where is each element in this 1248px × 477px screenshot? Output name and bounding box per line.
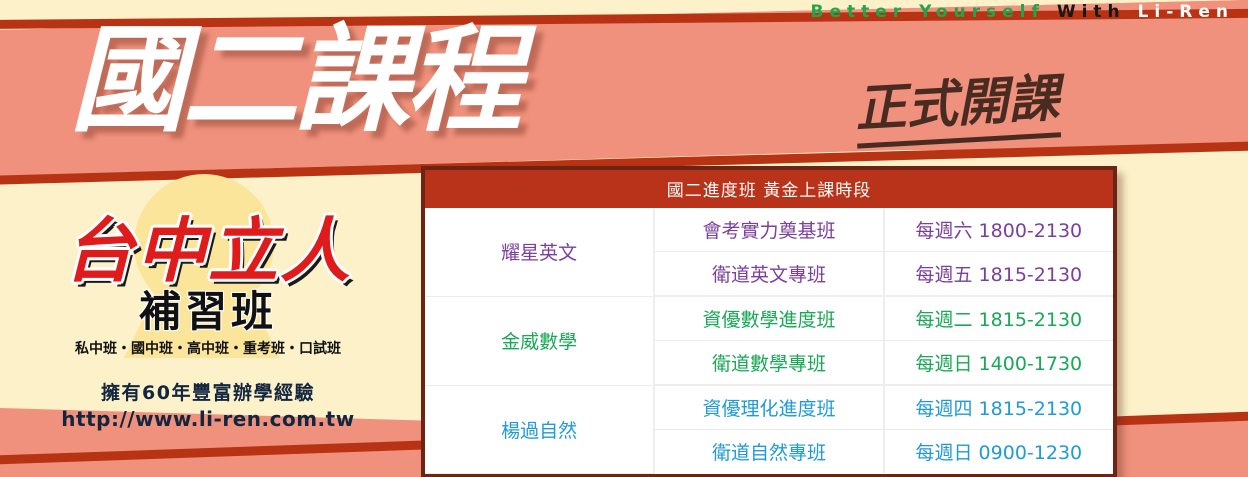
schedule-header-row: 國二進度班 黃金上課時段: [425, 170, 1113, 208]
schedule-time-cell: 每週日 1400-1730: [884, 341, 1113, 386]
logo-brand-subname: 補習班: [28, 288, 388, 335]
tagline-part-green: Better Yourself: [811, 2, 1045, 22]
tagline: Better Yourself With Li-Ren: [811, 2, 1234, 22]
promo-banner: Better Yourself With Li-Ren 國二課程 正式開課 台中…: [0, 0, 1248, 477]
schedule-course-cell: 衛道英文專班: [654, 252, 883, 297]
logo-website-url[interactable]: http://www.li-ren.com.tw: [28, 407, 388, 431]
logo-brand-name: 台中立人: [28, 196, 388, 286]
schedule-time-cell: 每週日 0900-1230: [884, 430, 1113, 474]
table-row: 金威數學資優數學進度班每週二 1815-2130: [425, 296, 1113, 341]
schedule-subject-cell: 耀星英文: [425, 208, 654, 296]
schedule-course-cell: 會考實力奠基班: [654, 208, 883, 252]
schedule-subject-cell: 楊過自然: [425, 385, 654, 473]
tagline-part-white: Li-Ren: [1138, 2, 1234, 22]
logo-class-types: 私中班・國中班・高中班・重考班・口試班: [28, 338, 388, 358]
headline-subtitle: 正式開課: [853, 56, 1061, 148]
schedule-course-cell: 衛道數學專班: [654, 341, 883, 386]
schedule-course-cell: 資優數學進度班: [654, 296, 883, 341]
schedule-header-title: 國二進度班 黃金上課時段: [425, 170, 1113, 208]
schedule-time-cell: 每週四 1815-2130: [884, 385, 1113, 430]
schedule-time-cell: 每週六 1800-2130: [884, 208, 1113, 252]
schedule-subject-cell: 金威數學: [425, 296, 654, 385]
schedule-body: 耀星英文會考實力奠基班每週六 1800-2130衛道英文專班每週五 1815-2…: [425, 208, 1113, 473]
schedule-time-cell: 每週二 1815-2130: [884, 296, 1113, 341]
page-title: 國二課程: [70, 16, 518, 146]
schedule-course-cell: 資優理化進度班: [654, 385, 883, 430]
table-row: 耀星英文會考實力奠基班每週六 1800-2130: [425, 208, 1113, 252]
logo-experience-text: 擁有60年豐富辦學經驗: [28, 378, 388, 405]
schedule-time-cell: 每週五 1815-2130: [884, 252, 1113, 297]
table-row: 楊過自然資優理化進度班每週四 1815-2130: [425, 385, 1113, 430]
logo: 台中立人 補習班 私中班・國中班・高中班・重考班・口試班 擁有60年豐富辦學經驗…: [28, 196, 388, 431]
tagline-part-black: With: [1057, 2, 1126, 22]
schedule-table: 國二進度班 黃金上課時段 耀星英文會考實力奠基班每週六 1800-2130衛道英…: [421, 166, 1117, 477]
schedule-course-cell: 衛道自然專班: [654, 430, 883, 474]
